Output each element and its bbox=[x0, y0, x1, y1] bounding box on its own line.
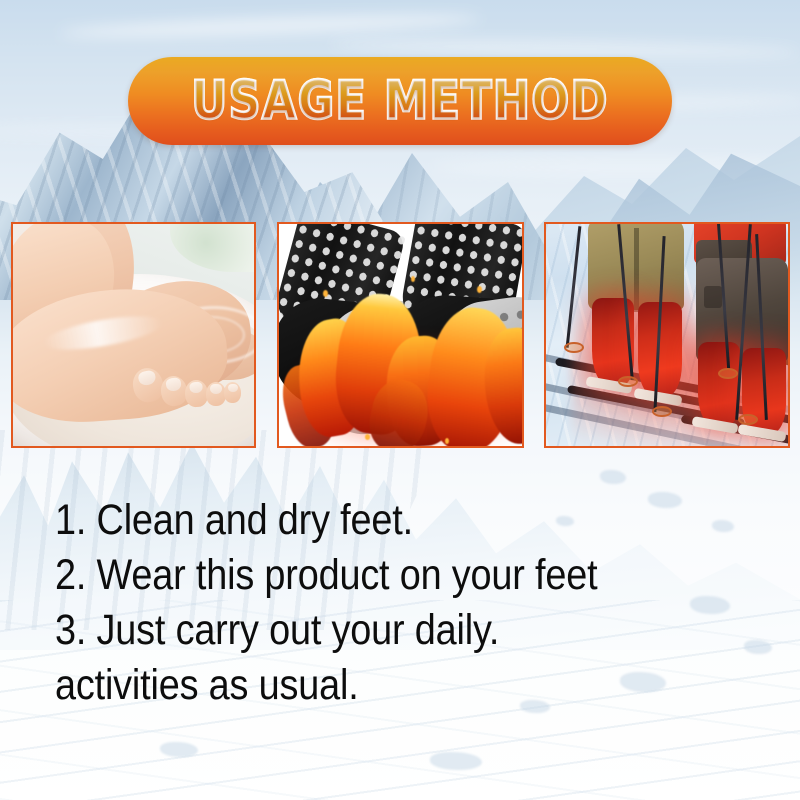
ski-pole-basket bbox=[718, 368, 738, 379]
toe bbox=[206, 382, 226, 406]
ember bbox=[445, 438, 449, 444]
snow-chunk bbox=[160, 742, 198, 757]
ski-pole-basket bbox=[652, 406, 672, 417]
ember bbox=[523, 316, 524, 321]
skier-b-trouser-pocket bbox=[704, 286, 722, 308]
ember bbox=[411, 276, 415, 282]
panel-3-image bbox=[546, 224, 788, 446]
snow-chunk bbox=[430, 752, 482, 770]
ski-pole-basket bbox=[738, 414, 758, 425]
toenail bbox=[228, 384, 238, 393]
ski-pole-basket bbox=[564, 342, 584, 353]
panel-skiers-outdoors bbox=[544, 222, 790, 448]
toenail bbox=[189, 382, 203, 394]
ember bbox=[323, 290, 328, 297]
usage-steps-list: 1. Clean and dry feet. 2. Wear this prod… bbox=[55, 493, 755, 713]
skier-a-trouser-seam bbox=[634, 228, 639, 312]
panel-1-image bbox=[13, 224, 254, 446]
ski-pole-basket bbox=[618, 376, 638, 387]
ember bbox=[477, 286, 482, 293]
title-banner: USAGE METHOD bbox=[128, 57, 672, 145]
usage-step-1: 1. Clean and dry feet. bbox=[55, 493, 671, 548]
toenail bbox=[165, 377, 182, 392]
usage-step-3: 3. Just carry out your daily. bbox=[55, 603, 671, 658]
usage-method-poster: USAGE METHOD bbox=[0, 0, 800, 800]
skier-b-boot-left bbox=[698, 342, 740, 426]
usage-step-2: 2. Wear this product on your feet bbox=[55, 548, 671, 603]
usage-step-3-continued: activities as usual. bbox=[55, 658, 671, 713]
panel-2-image bbox=[279, 224, 522, 446]
ember bbox=[365, 434, 370, 440]
toe bbox=[224, 382, 241, 403]
toenail bbox=[210, 384, 222, 394]
snow-chunk bbox=[600, 470, 626, 484]
toenail bbox=[137, 369, 157, 387]
panel-clean-dry-feet bbox=[11, 222, 256, 448]
page-title: USAGE METHOD bbox=[147, 75, 653, 128]
panel-heated-socks bbox=[277, 222, 524, 448]
